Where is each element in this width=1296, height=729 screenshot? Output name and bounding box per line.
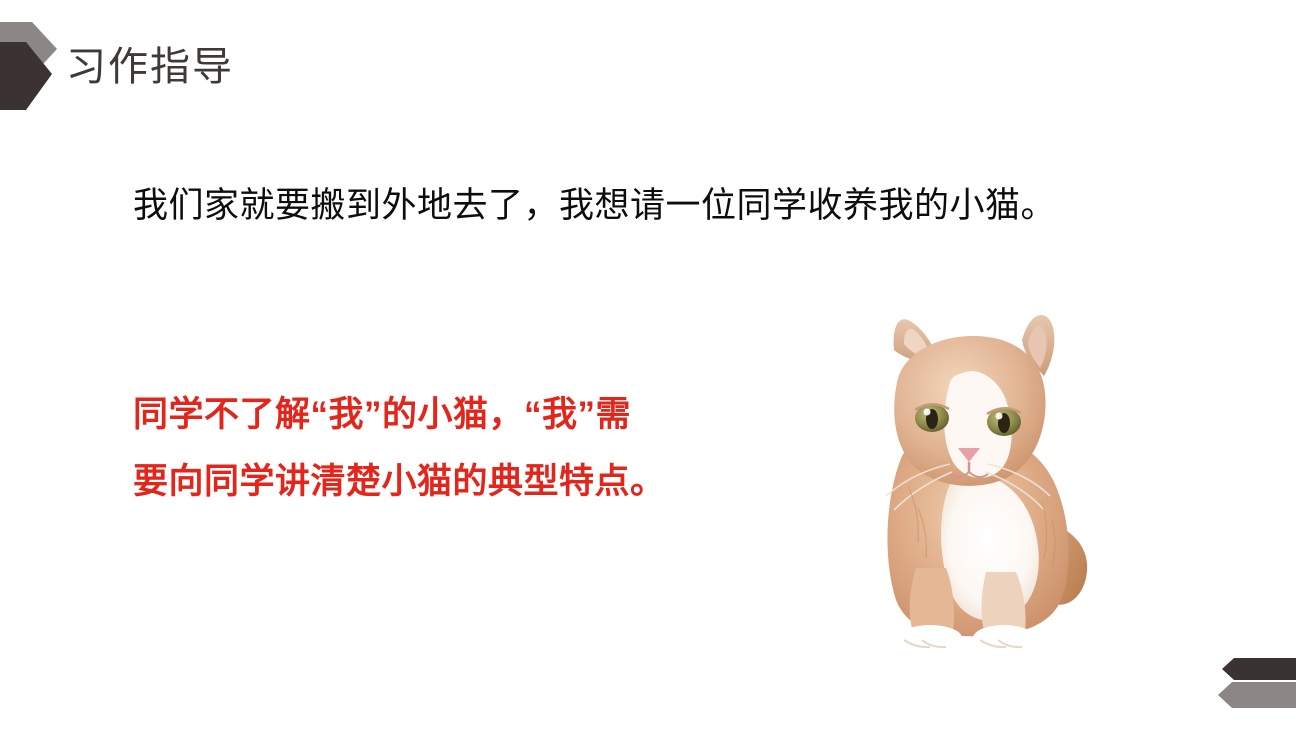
body-paragraph: 我们家就要搬到外地去了，我想请一位同学收养我的小猫。 [133, 182, 1056, 229]
kitten-illustration-icon [846, 306, 1112, 651]
highlight-line-1: 同学不了解“我”的小猫，“我”需 [133, 382, 666, 449]
double-chevron-left-icon [1218, 658, 1296, 710]
double-arrow-right-icon [0, 22, 62, 116]
slide-canvas: 习作指导 我们家就要搬到外地去了，我想请一位同学收养我的小猫。 同学不了解“我”… [0, 0, 1296, 729]
highlight-line-2: 要向同学讲清楚小猫的典型特点。 [133, 449, 666, 516]
highlight-paragraph: 同学不了解“我”的小猫，“我”需 要向同学讲清楚小猫的典型特点。 [133, 382, 666, 515]
bottom-right-banner-decoration [1218, 658, 1296, 710]
page-title: 习作指导 [66, 44, 234, 90]
kitten-image [846, 306, 1112, 651]
top-left-arrow-decoration [0, 22, 62, 116]
